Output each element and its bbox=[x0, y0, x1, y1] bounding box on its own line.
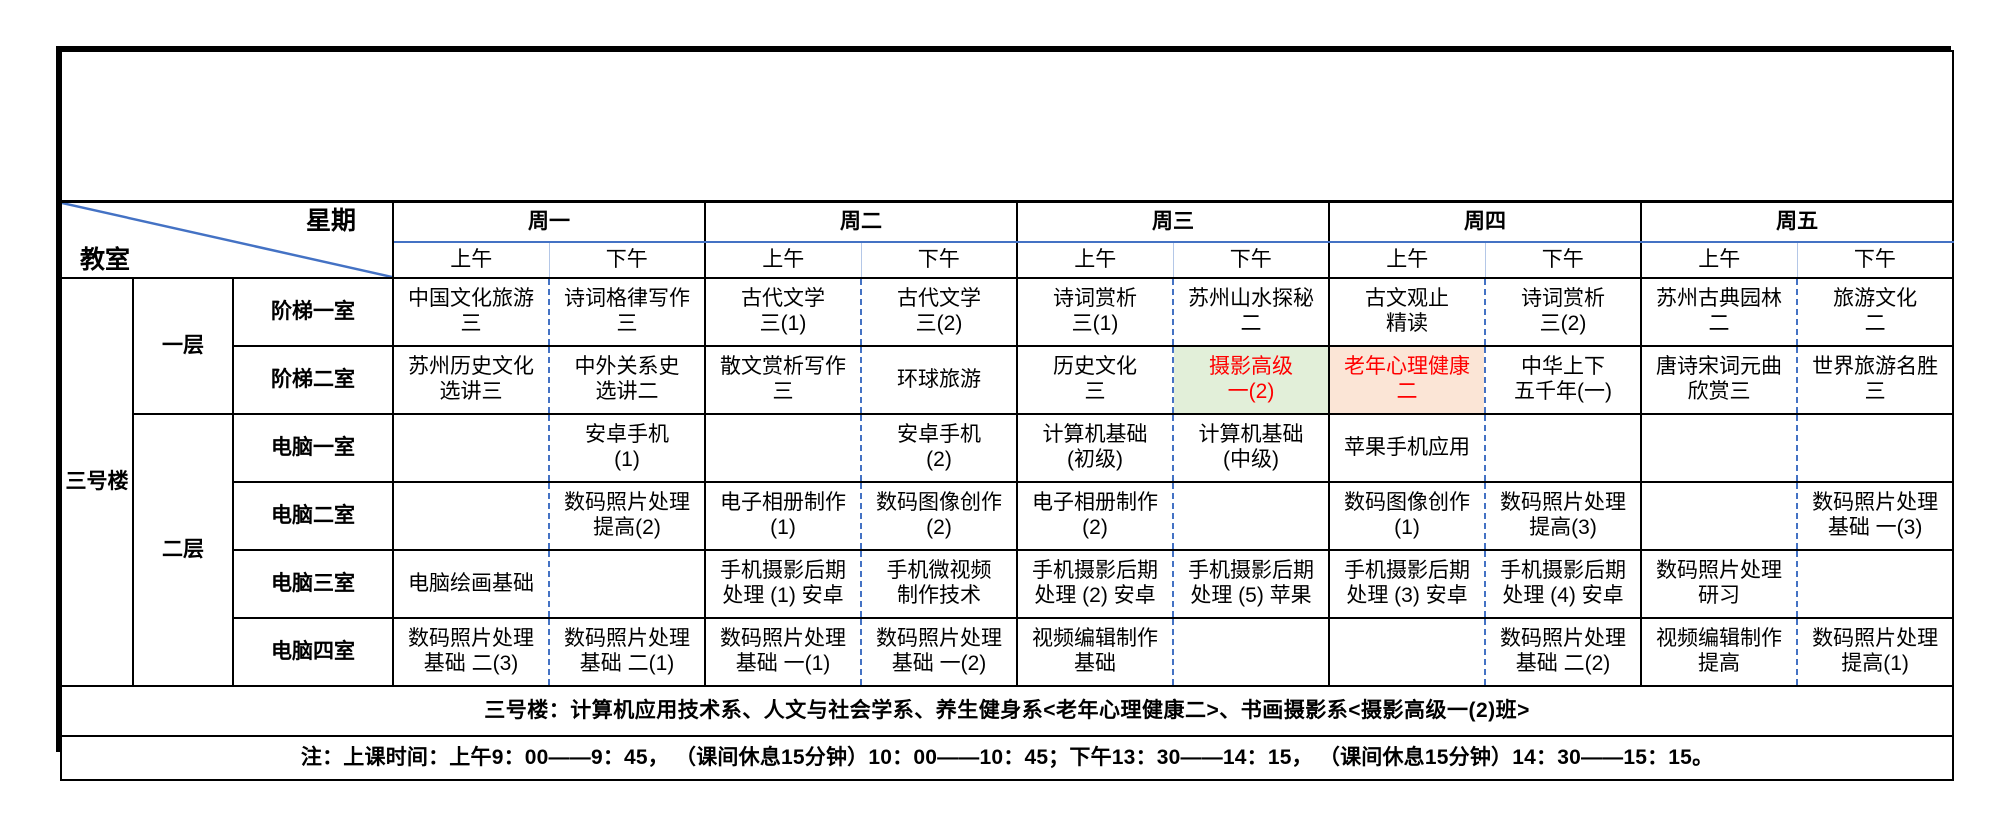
course-cell[interactable]: 安卓手机(2) bbox=[861, 414, 1017, 482]
course-cell[interactable] bbox=[1485, 414, 1641, 482]
course-cell[interactable]: 电子相册制作(2) bbox=[1017, 482, 1173, 550]
course-cell[interactable] bbox=[1797, 414, 1953, 482]
banner-title-line: 苏州市老年大学教室科目日程一览表2021年秋季学期 bbox=[62, 74, 1952, 128]
schedule-sheet: 苏州市老年大学教室科目日程一览表2021年秋季学期 The Classroom … bbox=[56, 46, 1951, 752]
schedule-table: 苏州市老年大学教室科目日程一览表2021年秋季学期 The Classroom … bbox=[60, 50, 1954, 781]
corner-room-label: 教室 bbox=[80, 246, 130, 276]
table-row: 电脑三室 电脑绘画基础 手机摄影后期处理 (1) 安卓 手机微视频制作技术 手机… bbox=[61, 550, 1953, 618]
half-header-tue-am: 上午 bbox=[705, 242, 861, 278]
course-cell[interactable]: 数码图像创作(1) bbox=[1329, 482, 1485, 550]
table-row: 电脑二室 数码照片处理提高(2) 电子相册制作(1) 数码图像创作(2) 电子相… bbox=[61, 482, 1953, 550]
corner-header-cell: 星期 教室 bbox=[61, 202, 393, 279]
course-cell[interactable]: 数码照片处理基础 二(1) bbox=[549, 618, 705, 686]
class-time-note: 注：上课时间：上午9：00——9：45， （课间休息15分钟）10：00——10… bbox=[61, 736, 1953, 780]
course-cell[interactable] bbox=[1173, 482, 1329, 550]
half-header-mon-am: 上午 bbox=[393, 242, 549, 278]
course-cell[interactable]: 诗词赏析三(1) bbox=[1017, 278, 1173, 346]
course-cell[interactable]: 散文赏析写作三 bbox=[705, 346, 861, 414]
day-header-fri: 周五 bbox=[1641, 202, 1953, 243]
room-label-4: 电脑三室 bbox=[233, 550, 393, 618]
course-cell[interactable]: 视频编辑制作提高 bbox=[1641, 618, 1797, 686]
course-cell[interactable]: 环球旅游 bbox=[861, 346, 1017, 414]
corner-week-label: 星期 bbox=[306, 207, 356, 237]
course-cell[interactable]: 数码照片处理基础 一(3) bbox=[1797, 482, 1953, 550]
course-cell[interactable]: 数码照片处理提高(3) bbox=[1485, 482, 1641, 550]
half-header-wed-pm: 下午 bbox=[1173, 242, 1329, 278]
course-cell[interactable]: 历史文化三 bbox=[1017, 346, 1173, 414]
building-label: 三号楼 bbox=[61, 278, 133, 686]
half-header-thu-am: 上午 bbox=[1329, 242, 1485, 278]
room-label-5: 电脑四室 bbox=[233, 618, 393, 686]
day-header-wed: 周三 bbox=[1017, 202, 1329, 243]
course-cell[interactable]: 世界旅游名胜三 bbox=[1797, 346, 1953, 414]
room-label-3: 电脑二室 bbox=[233, 482, 393, 550]
course-cell[interactable]: 数码照片处理提高(2) bbox=[549, 482, 705, 550]
course-cell-highlight-green[interactable]: 摄影高级一(2) bbox=[1173, 346, 1329, 414]
course-cell[interactable]: 古文观止精读 bbox=[1329, 278, 1485, 346]
course-cell[interactable]: 手机摄影后期处理 (5) 苹果 bbox=[1173, 550, 1329, 618]
term-label: 2021年秋季学期 bbox=[1324, 88, 1505, 116]
course-cell[interactable] bbox=[1329, 618, 1485, 686]
course-cell[interactable]: 电脑绘画基础 bbox=[393, 550, 549, 618]
half-header-wed-am: 上午 bbox=[1017, 242, 1173, 278]
room-label-1: 阶梯二室 bbox=[233, 346, 393, 414]
course-cell[interactable]: 中外关系史选讲二 bbox=[549, 346, 705, 414]
half-header-fri-pm: 下午 bbox=[1797, 242, 1953, 278]
course-cell[interactable]: 苏州山水探秘二 bbox=[1173, 278, 1329, 346]
course-cell[interactable] bbox=[393, 482, 549, 550]
floor-label-2: 二层 bbox=[133, 414, 233, 686]
departments-note: 三号楼：计算机应用技术系、人文与社会学系、养生健身系<老年心理健康二>、书画摄影… bbox=[61, 686, 1953, 736]
course-cell[interactable]: 数码照片处理提高(1) bbox=[1797, 618, 1953, 686]
course-cell[interactable] bbox=[1173, 618, 1329, 686]
course-cell[interactable]: 手机摄影后期处理 (2) 安卓 bbox=[1017, 550, 1173, 618]
course-cell[interactable]: 古代文学三(1) bbox=[705, 278, 861, 346]
half-header-mon-pm: 下午 bbox=[549, 242, 705, 278]
course-cell[interactable]: 诗词格律写作三 bbox=[549, 278, 705, 346]
course-cell[interactable]: 计算机基础(初级) bbox=[1017, 414, 1173, 482]
course-cell[interactable] bbox=[549, 550, 705, 618]
course-cell[interactable]: 苹果手机应用 bbox=[1329, 414, 1485, 482]
course-cell[interactable]: 诗词赏析三(2) bbox=[1485, 278, 1641, 346]
course-cell[interactable]: 古代文学三(2) bbox=[861, 278, 1017, 346]
table-row: 电脑四室 数码照片处理基础 二(3) 数码照片处理基础 二(1) 数码照片处理基… bbox=[61, 618, 1953, 686]
course-cell[interactable] bbox=[1641, 414, 1797, 482]
table-row: 阶梯二室 苏州历史文化选讲三 中外关系史选讲二 散文赏析写作三 环球旅游 历史文… bbox=[61, 346, 1953, 414]
half-header-thu-pm: 下午 bbox=[1485, 242, 1641, 278]
course-cell[interactable]: 安卓手机(1) bbox=[549, 414, 705, 482]
course-cell[interactable]: 手机摄影后期处理 (3) 安卓 bbox=[1329, 550, 1485, 618]
course-cell[interactable]: 旅游文化二 bbox=[1797, 278, 1953, 346]
course-cell[interactable]: 数码图像创作(2) bbox=[861, 482, 1017, 550]
day-header-row: 星期 教室 周一 周二 周三 周四 周五 bbox=[61, 202, 1953, 243]
course-cell[interactable]: 数码照片处理基础 二(3) bbox=[393, 618, 549, 686]
page-subtitle-en: The Classroom Course Schedule of Suzhou … bbox=[62, 148, 1952, 181]
departments-row: 三号楼：计算机应用技术系、人文与社会学系、养生健身系<老年心理健康二>、书画摄影… bbox=[61, 686, 1953, 736]
course-cell[interactable]: 电子相册制作(1) bbox=[705, 482, 861, 550]
time-note-row: 注：上课时间：上午9：00——9：45， （课间休息15分钟）10：00——10… bbox=[61, 736, 1953, 780]
course-cell[interactable] bbox=[1641, 482, 1797, 550]
course-cell[interactable]: 手机摄影后期处理 (1) 安卓 bbox=[705, 550, 861, 618]
course-cell-highlight-pink[interactable]: 老年心理健康二 bbox=[1329, 346, 1485, 414]
banner-cell: 苏州市老年大学教室科目日程一览表2021年秋季学期 The Classroom … bbox=[61, 51, 1953, 202]
course-cell[interactable]: 数码照片处理研习 bbox=[1641, 550, 1797, 618]
course-cell[interactable] bbox=[705, 414, 861, 482]
course-cell[interactable] bbox=[393, 414, 549, 482]
table-row: 二层 电脑一室 安卓手机(1) 安卓手机(2) 计算机基础(初级) 计算机基础(… bbox=[61, 414, 1953, 482]
banner-row: 苏州市老年大学教室科目日程一览表2021年秋季学期 The Classroom … bbox=[61, 51, 1953, 202]
course-cell[interactable]: 数码照片处理基础 一(2) bbox=[861, 618, 1017, 686]
course-cell[interactable]: 手机微视频制作技术 bbox=[861, 550, 1017, 618]
course-cell[interactable]: 数码照片处理基础 一(1) bbox=[705, 618, 861, 686]
course-cell[interactable]: 数码照片处理基础 二(2) bbox=[1485, 618, 1641, 686]
day-header-tue: 周二 bbox=[705, 202, 1017, 243]
page-title: 苏州市老年大学教室科目日程一览表 bbox=[510, 75, 1278, 127]
course-cell[interactable]: 唐诗宋词元曲欣赏三 bbox=[1641, 346, 1797, 414]
course-cell[interactable]: 中华上下五千年(一) bbox=[1485, 346, 1641, 414]
course-cell[interactable]: 视频编辑制作基础 bbox=[1017, 618, 1173, 686]
course-cell[interactable]: 苏州古典园林二 bbox=[1641, 278, 1797, 346]
course-cell[interactable]: 计算机基础(中级) bbox=[1173, 414, 1329, 482]
course-cell[interactable]: 中国文化旅游三 bbox=[393, 278, 549, 346]
half-header-fri-am: 上午 bbox=[1641, 242, 1797, 278]
floor-label-1: 一层 bbox=[133, 278, 233, 414]
course-cell[interactable] bbox=[1797, 550, 1953, 618]
half-header-tue-pm: 下午 bbox=[861, 242, 1017, 278]
course-cell[interactable]: 手机摄影后期处理 (4) 安卓 bbox=[1485, 550, 1641, 618]
room-label-2: 电脑一室 bbox=[233, 414, 393, 482]
day-header-thu: 周四 bbox=[1329, 202, 1641, 243]
room-label-0: 阶梯一室 bbox=[233, 278, 393, 346]
table-row: 三号楼 一层 阶梯一室 中国文化旅游三 诗词格律写作三 古代文学三(1) 古代文… bbox=[61, 278, 1953, 346]
course-cell[interactable]: 苏州历史文化选讲三 bbox=[393, 346, 549, 414]
day-header-mon: 周一 bbox=[393, 202, 705, 243]
